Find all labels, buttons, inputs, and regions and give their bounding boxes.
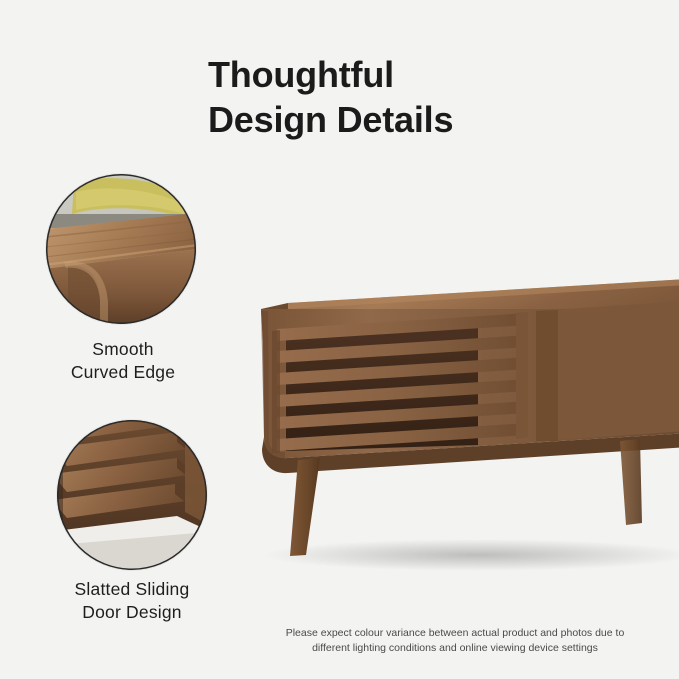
callout-smooth-curved-edge [46,174,196,324]
callout-slatted-sliding-door [57,420,207,570]
headline-line-1: Thoughtful [208,54,394,95]
callout-caption-slatted-sliding-door: Slatted Sliding Door Design [22,578,242,624]
caption-2-line-1: Slatted Sliding [75,579,190,599]
disclaimer-text: Please expect colour variance between ac… [250,626,660,656]
headline-line-2: Design Details [208,97,638,142]
disclaimer-line-1: Please expect colour variance between ac… [286,627,625,639]
product-photo [228,255,679,575]
caption-1-line-2: Curved Edge [18,361,228,384]
disclaimer-line-2: different lighting conditions and online… [250,641,660,656]
promo-image-canvas: Thoughtful Design Details [0,0,679,679]
caption-2-line-2: Door Design [22,601,242,624]
page-title: Thoughtful Design Details [208,52,638,142]
caption-1-line-1: Smooth [92,339,154,359]
callout-caption-smooth-curved-edge: Smooth Curved Edge [18,338,228,384]
